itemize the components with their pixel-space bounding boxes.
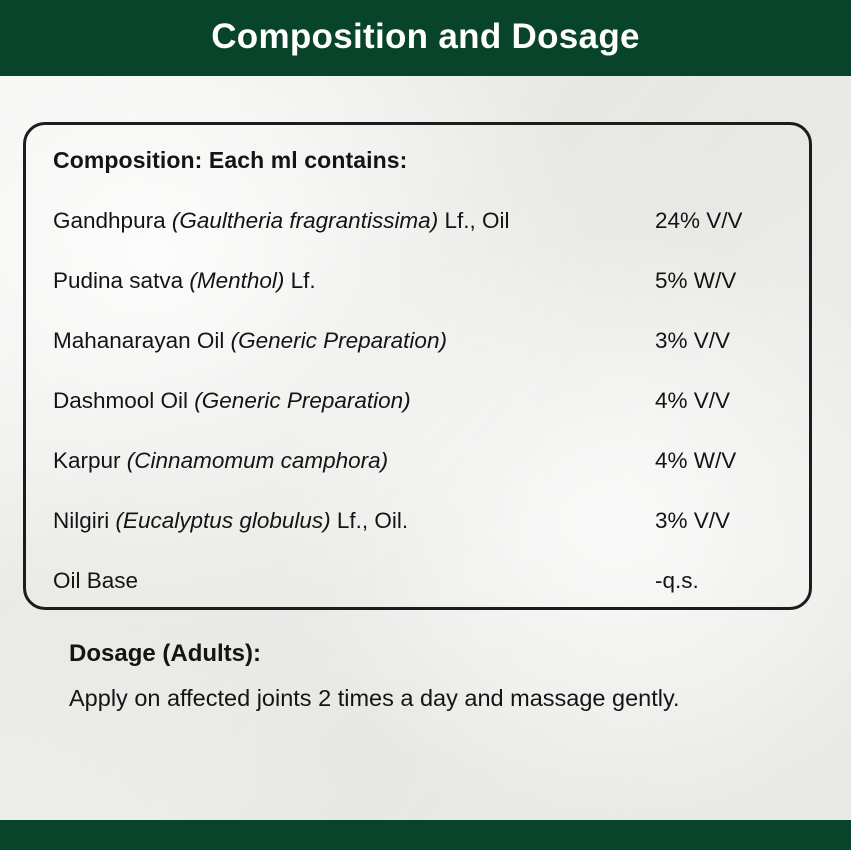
ingredient-common-name: Karpur xyxy=(53,448,127,473)
ingredient-latin-name: (Gaultheria fragrantissima) xyxy=(172,208,438,233)
ingredient-part: Lf., Oil xyxy=(438,208,509,233)
header-bar: Composition and Dosage xyxy=(0,0,851,76)
ingredient-amount: 3% V/V xyxy=(637,311,783,371)
footer-bar xyxy=(0,820,851,850)
ingredients-table: Gandhpura (Gaultheria fragrantissima) Lf… xyxy=(53,191,783,611)
table-row: Karpur (Cinnamomum camphora) 4% W/V xyxy=(53,431,783,491)
ingredient-amount: 4% W/V xyxy=(637,431,783,491)
ingredient-name: Mahanarayan Oil (Generic Preparation) xyxy=(53,311,637,371)
ingredient-common-name: Oil Base xyxy=(53,568,138,593)
ingredient-name: Karpur (Cinnamomum camphora) xyxy=(53,431,637,491)
page-title: Composition and Dosage xyxy=(211,19,640,57)
ingredient-latin-name: (Generic Preparation) xyxy=(231,328,447,353)
composition-heading: Composition: Each ml contains: xyxy=(53,147,783,175)
dosage-heading: Dosage (Adults): xyxy=(69,640,789,669)
dosage-section: Dosage (Adults): Apply on affected joint… xyxy=(69,640,789,716)
ingredient-common-name: Nilgiri xyxy=(53,508,116,533)
ingredient-amount: -q.s. xyxy=(637,551,783,611)
ingredient-part: Lf., Oil. xyxy=(331,508,409,533)
table-row: Nilgiri (Eucalyptus globulus) Lf., Oil. … xyxy=(53,491,783,551)
table-row: Pudina satva (Menthol) Lf. 5% W/V xyxy=(53,251,783,311)
dosage-instructions: Apply on affected joints 2 times a day a… xyxy=(69,681,719,716)
ingredient-name: Nilgiri (Eucalyptus globulus) Lf., Oil. xyxy=(53,491,637,551)
table-row: Oil Base -q.s. xyxy=(53,551,783,611)
table-row: Dashmool Oil (Generic Preparation) 4% V/… xyxy=(53,371,783,431)
ingredient-common-name: Dashmool Oil xyxy=(53,388,194,413)
ingredients-table-body: Gandhpura (Gaultheria fragrantissima) Lf… xyxy=(53,191,783,611)
ingredient-part: Lf. xyxy=(284,268,315,293)
ingredient-amount: 3% V/V xyxy=(637,491,783,551)
ingredient-name: Pudina satva (Menthol) Lf. xyxy=(53,251,637,311)
composition-dosage-page: Composition and Dosage Composition: Each… xyxy=(0,0,851,850)
ingredient-common-name: Mahanarayan Oil xyxy=(53,328,231,353)
ingredient-name: Oil Base xyxy=(53,551,637,611)
ingredient-amount: 4% V/V xyxy=(637,371,783,431)
ingredient-latin-name: (Cinnamomum camphora) xyxy=(127,448,388,473)
ingredient-name: Dashmool Oil (Generic Preparation) xyxy=(53,371,637,431)
ingredient-common-name: Pudina satva xyxy=(53,268,189,293)
ingredient-latin-name: (Generic Preparation) xyxy=(194,388,410,413)
ingredient-latin-name: (Eucalyptus globulus) xyxy=(116,508,331,533)
ingredient-amount: 5% W/V xyxy=(637,251,783,311)
ingredient-latin-name: (Menthol) xyxy=(189,268,284,293)
composition-card: Composition: Each ml contains: Gandhpura… xyxy=(23,122,812,610)
table-row: Gandhpura (Gaultheria fragrantissima) Lf… xyxy=(53,191,783,251)
ingredient-name: Gandhpura (Gaultheria fragrantissima) Lf… xyxy=(53,191,637,251)
table-row: Mahanarayan Oil (Generic Preparation) 3%… xyxy=(53,311,783,371)
ingredient-amount: 24% V/V xyxy=(637,191,783,251)
ingredient-common-name: Gandhpura xyxy=(53,208,172,233)
